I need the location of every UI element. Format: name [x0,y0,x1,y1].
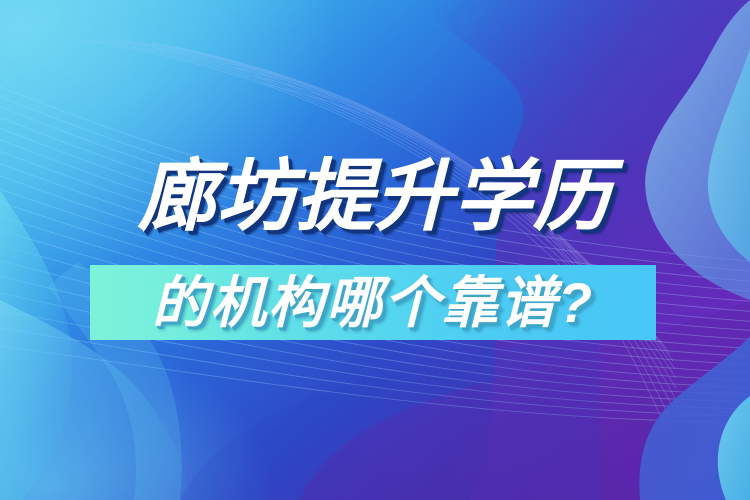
background-artwork [0,0,750,500]
background-svg [0,0,750,500]
headline-banner-bar [90,265,656,340]
promo-banner: 廊坊提升学历 的机构哪个靠谱? [0,0,750,500]
